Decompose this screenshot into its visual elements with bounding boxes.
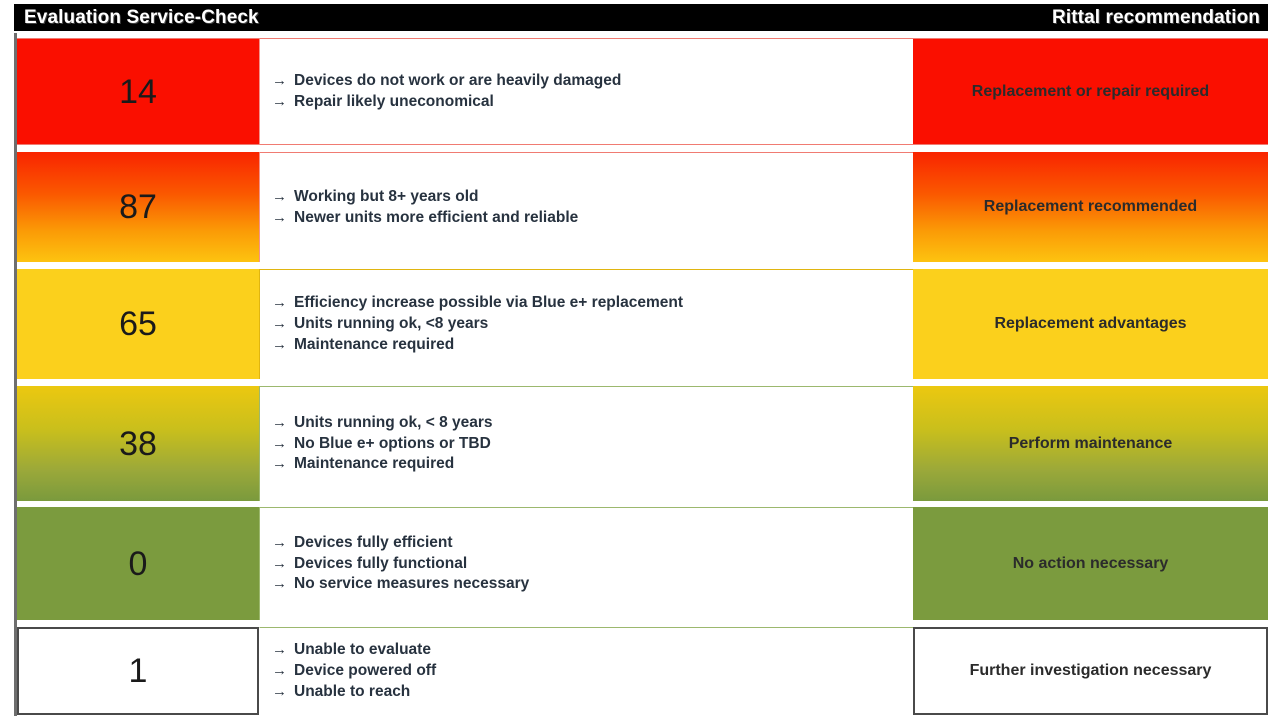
bullet-text: Units running ok, < 8 years [294, 413, 493, 434]
count-cell: 65 [17, 269, 259, 379]
bullet-line: → Working but 8+ years old [272, 187, 913, 208]
count-value: 38 [119, 427, 157, 461]
recommendation-cell: Replacement advantages [913, 269, 1268, 379]
recommendation-text: No action necessary [1013, 555, 1169, 573]
count-value: 0 [129, 547, 148, 581]
bullet-line: → Repair likely uneconomical [272, 92, 913, 113]
recommendation-cell: Perform maintenance [913, 386, 1268, 501]
bullet-text: Newer units more efficient and reliable [294, 208, 578, 229]
description-cell: → Units running ok, < 8 years → No Blue … [259, 386, 913, 501]
recommendation-cell: Further investigation necessary [913, 627, 1268, 715]
service-check-table: Evaluation Service-Check Rittal recommen… [0, 0, 1280, 720]
arrow-icon: → [272, 454, 294, 474]
bullet-line: → Devices fully functional [272, 554, 913, 575]
bullet-line: → Devices fully efficient [272, 533, 913, 554]
recommendation-cell: No action necessary [913, 507, 1268, 620]
table-row: 0 → Devices fully efficient → Devices fu… [17, 507, 1268, 620]
recommendation-text: Replacement or repair required [972, 83, 1209, 101]
arrow-icon: → [272, 92, 294, 112]
table-row: 1 → Unable to evaluate → Device powered … [17, 627, 1268, 715]
bullet-text: Unable to evaluate [294, 640, 431, 661]
bullet-text: Devices fully efficient [294, 533, 453, 554]
table-row: 38 → Units running ok, < 8 years → No Bl… [17, 386, 1268, 501]
count-value: 1 [129, 654, 148, 688]
arrow-icon: → [272, 434, 294, 454]
bullet-line: → Newer units more efficient and reliabl… [272, 208, 913, 229]
arrow-icon: → [272, 640, 294, 660]
bullet-line: → Device powered off [272, 661, 913, 682]
count-cell: 0 [17, 507, 259, 620]
arrow-icon: → [272, 574, 294, 594]
bullet-text: Maintenance required [294, 335, 454, 356]
table-row: 14 → Devices do not work or are heavily … [17, 38, 1268, 145]
recommendation-text: Perform maintenance [1009, 435, 1173, 453]
count-cell: 1 [17, 627, 259, 715]
bullet-text: Repair likely uneconomical [294, 92, 494, 113]
bullet-line: → No Blue e+ options or TBD [272, 434, 913, 455]
recommendation-text: Replacement recommended [984, 198, 1197, 216]
bullet-line: → Unable to reach [272, 682, 913, 703]
bullet-text: Devices fully functional [294, 554, 467, 575]
bullet-line: → No service measures necessary [272, 574, 913, 595]
arrow-icon: → [272, 293, 294, 313]
bullet-text: No service measures necessary [294, 574, 529, 595]
recommendation-cell: Replacement or repair required [913, 38, 1268, 145]
bullet-line: → Maintenance required [272, 454, 913, 475]
arrow-icon: → [272, 314, 294, 334]
bullet-text: Efficiency increase possible via Blue e+… [294, 293, 683, 314]
recommendation-cell: Replacement recommended [913, 152, 1268, 262]
arrow-icon: → [272, 187, 294, 207]
bullet-text: Working but 8+ years old [294, 187, 478, 208]
bullet-text: Maintenance required [294, 454, 454, 475]
recommendation-text: Further investigation necessary [970, 662, 1212, 680]
table-row: 87 → Working but 8+ years old → Newer un… [17, 152, 1268, 262]
bullet-text: Unable to reach [294, 682, 410, 703]
table-row: 65 → Efficiency increase possible via Bl… [17, 269, 1268, 379]
description-cell: → Working but 8+ years old → Newer units… [259, 152, 913, 262]
arrow-icon: → [272, 682, 294, 702]
description-cell: → Devices fully efficient → Devices full… [259, 507, 913, 620]
arrow-icon: → [272, 533, 294, 553]
bullet-line: → Unable to evaluate [272, 640, 913, 661]
table-body: 14 → Devices do not work or are heavily … [14, 33, 1268, 716]
arrow-icon: → [272, 71, 294, 91]
header-right-title: Rittal recommendation [1052, 7, 1260, 29]
description-cell: → Devices do not work or are heavily dam… [259, 38, 913, 145]
table-header-bar: Evaluation Service-Check Rittal recommen… [14, 4, 1268, 31]
count-cell: 14 [17, 38, 259, 145]
bullet-line: → Units running ok, <8 years [272, 314, 913, 335]
description-cell: → Unable to evaluate → Device powered of… [259, 627, 913, 715]
bottom-edge [14, 716, 1268, 718]
count-value: 14 [119, 75, 157, 109]
arrow-icon: → [272, 413, 294, 433]
arrow-icon: → [272, 554, 294, 574]
bullet-line: → Maintenance required [272, 335, 913, 356]
bullet-text: Devices do not work or are heavily damag… [294, 71, 621, 92]
count-cell: 87 [17, 152, 259, 262]
arrow-icon: → [272, 208, 294, 228]
bullet-line: → Devices do not work or are heavily dam… [272, 71, 913, 92]
arrow-icon: → [272, 335, 294, 355]
count-value: 87 [119, 190, 157, 224]
recommendation-text: Replacement advantages [994, 315, 1186, 333]
bullet-text: No Blue e+ options or TBD [294, 434, 491, 455]
bullet-text: Units running ok, <8 years [294, 314, 488, 335]
bullet-line: → Units running ok, < 8 years [272, 413, 913, 434]
arrow-icon: → [272, 661, 294, 681]
bullet-text: Device powered off [294, 661, 436, 682]
count-cell: 38 [17, 386, 259, 501]
header-left-title: Evaluation Service-Check [24, 7, 259, 29]
count-value: 65 [119, 307, 157, 341]
description-cell: → Efficiency increase possible via Blue … [259, 269, 913, 379]
bullet-line: → Efficiency increase possible via Blue … [272, 293, 913, 314]
